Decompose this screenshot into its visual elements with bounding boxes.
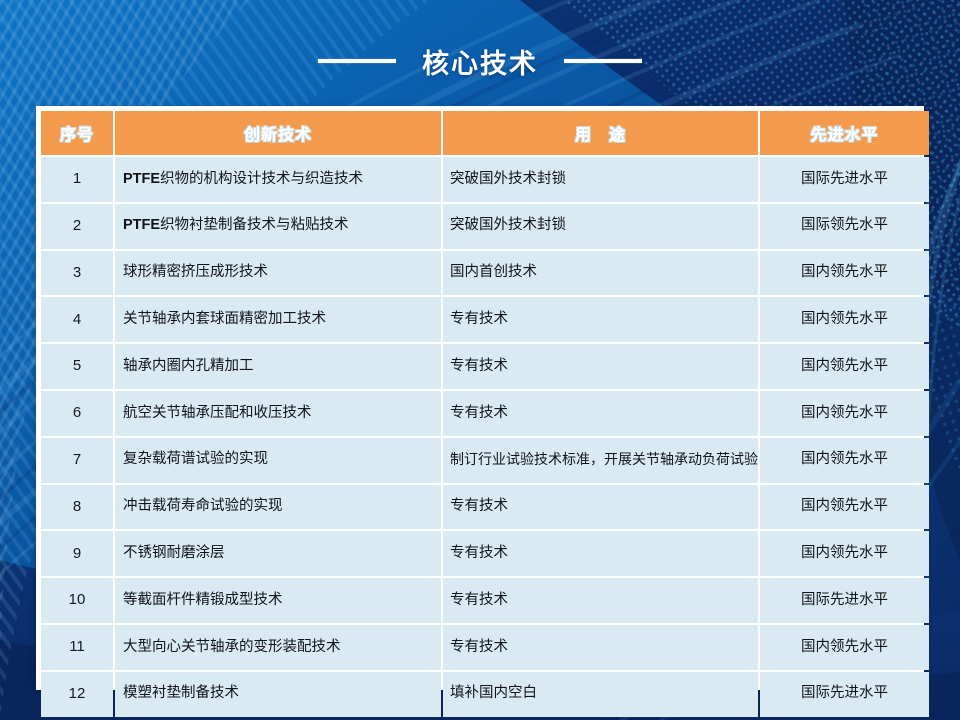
core-technology-table: 序号 创新技术 用 途 先进水平 1PTFE织物的机构设计技术与织造技术突破国外… — [39, 109, 931, 719]
slide-canvas: 核心技术 序号 创新技术 用 途 先进水平 1PTFE织物的机构设计技术与织造技… — [0, 0, 960, 720]
cell-serial-number: 4 — [41, 297, 113, 342]
column-header-use: 用 途 — [443, 111, 758, 155]
column-header-level: 先进水平 — [760, 111, 929, 155]
table-header: 序号 创新技术 用 途 先进水平 — [41, 111, 929, 155]
cell-serial-number: 12 — [41, 672, 113, 717]
cell-serial-number: 7 — [41, 438, 113, 483]
cell-innovative-technology: 等截面杆件精锻成型技术 — [115, 578, 441, 623]
cell-advanced-level: 国际领先水平 — [760, 204, 929, 249]
page-title: 核心技术 — [422, 42, 538, 81]
table-row: 9不锈钢耐磨涂层专有技术国内领先水平 — [41, 531, 929, 576]
cell-advanced-level: 国际先进水平 — [760, 157, 929, 202]
cell-innovative-technology: 大型向心关节轴承的变形装配技术 — [115, 625, 441, 670]
cell-application: 制订行业试验技术标准，开展关节轴承动负荷试验 — [443, 438, 758, 483]
cell-serial-number: 8 — [41, 485, 113, 530]
table-row: 5轴承内圈内孔精加工专有技术国内领先水平 — [41, 344, 929, 389]
cell-serial-number: 11 — [41, 625, 113, 670]
column-header-no: 序号 — [41, 111, 113, 155]
cell-serial-number: 2 — [41, 204, 113, 249]
cell-serial-number: 10 — [41, 578, 113, 623]
table-row: 4关节轴承内套球面精密加工技术专有技术国内领先水平 — [41, 297, 929, 342]
cell-innovative-technology: 复杂载荷谱试验的实现 — [115, 438, 441, 483]
cell-advanced-level: 国内领先水平 — [760, 438, 929, 483]
table-body: 1PTFE织物的机构设计技术与织造技术突破国外技术封锁国际先进水平2PTFE织物… — [41, 157, 929, 717]
table-row: 11大型向心关节轴承的变形装配技术专有技术国内领先水平 — [41, 625, 929, 670]
table-row: 7复杂载荷谱试验的实现制订行业试验技术标准，开展关节轴承动负荷试验国内领先水平 — [41, 438, 929, 483]
cell-serial-number: 1 — [41, 157, 113, 202]
table-row: 10等截面杆件精锻成型技术专有技术国际先进水平 — [41, 578, 929, 623]
cell-advanced-level: 国内领先水平 — [760, 251, 929, 296]
cell-application: 国内首创技术 — [443, 251, 758, 296]
cell-application: 专有技术 — [443, 297, 758, 342]
cell-application: 专有技术 — [443, 344, 758, 389]
cell-serial-number: 9 — [41, 531, 113, 576]
cell-advanced-level: 国际先进水平 — [760, 578, 929, 623]
table-row: 8冲击载荷寿命试验的实现专有技术国内领先水平 — [41, 485, 929, 530]
cell-advanced-level: 国内领先水平 — [760, 531, 929, 576]
cell-innovative-technology: 模塑衬垫制备技术 — [115, 672, 441, 717]
cell-serial-number: 3 — [41, 251, 113, 296]
latin-token: PTFE — [123, 171, 160, 187]
slide-title-bar: 核心技术 — [0, 38, 960, 84]
cell-application: 专有技术 — [443, 485, 758, 530]
title-rule-left-icon — [318, 59, 396, 63]
title-rule-right-icon — [564, 59, 642, 63]
cell-innovative-technology: 轴承内圈内孔精加工 — [115, 344, 441, 389]
core-technology-table-container: 序号 创新技术 用 途 先进水平 1PTFE织物的机构设计技术与织造技术突破国外… — [36, 106, 924, 690]
cell-advanced-level: 国内领先水平 — [760, 297, 929, 342]
cell-advanced-level: 国内领先水平 — [760, 391, 929, 436]
cell-application: 突破国外技术封锁 — [443, 204, 758, 249]
cell-innovative-technology: PTFE织物的机构设计技术与织造技术 — [115, 157, 441, 202]
cell-innovative-technology: 关节轴承内套球面精密加工技术 — [115, 297, 441, 342]
cell-serial-number: 5 — [41, 344, 113, 389]
table-row: 6航空关节轴承压配和收压技术专有技术国内领先水平 — [41, 391, 929, 436]
cell-innovative-technology: 球形精密挤压成形技术 — [115, 251, 441, 296]
cell-application: 专有技术 — [443, 625, 758, 670]
cell-innovative-technology: 航空关节轴承压配和收压技术 — [115, 391, 441, 436]
table-row: 12模塑衬垫制备技术填补国内空白国际先进水平 — [41, 672, 929, 717]
cell-application: 专有技术 — [443, 391, 758, 436]
cell-innovative-technology: PTFE织物衬垫制备技术与粘贴技术 — [115, 204, 441, 249]
table-header-row: 序号 创新技术 用 途 先进水平 — [41, 111, 929, 155]
cell-application: 突破国外技术封锁 — [443, 157, 758, 202]
cell-advanced-level: 国内领先水平 — [760, 344, 929, 389]
column-header-tech: 创新技术 — [115, 111, 441, 155]
table-row: 3球形精密挤压成形技术国内首创技术国内领先水平 — [41, 251, 929, 296]
latin-token: PTFE — [123, 217, 160, 233]
table-row: 2PTFE织物衬垫制备技术与粘贴技术突破国外技术封锁国际领先水平 — [41, 204, 929, 249]
cell-application: 专有技术 — [443, 578, 758, 623]
cell-advanced-level: 国际先进水平 — [760, 672, 929, 717]
cell-application: 专有技术 — [443, 531, 758, 576]
cell-advanced-level: 国内领先水平 — [760, 625, 929, 670]
cell-serial-number: 6 — [41, 391, 113, 436]
cell-application: 填补国内空白 — [443, 672, 758, 717]
cell-innovative-technology: 冲击载荷寿命试验的实现 — [115, 485, 441, 530]
table-row: 1PTFE织物的机构设计技术与织造技术突破国外技术封锁国际先进水平 — [41, 157, 929, 202]
cell-advanced-level: 国内领先水平 — [760, 485, 929, 530]
cell-innovative-technology: 不锈钢耐磨涂层 — [115, 531, 441, 576]
